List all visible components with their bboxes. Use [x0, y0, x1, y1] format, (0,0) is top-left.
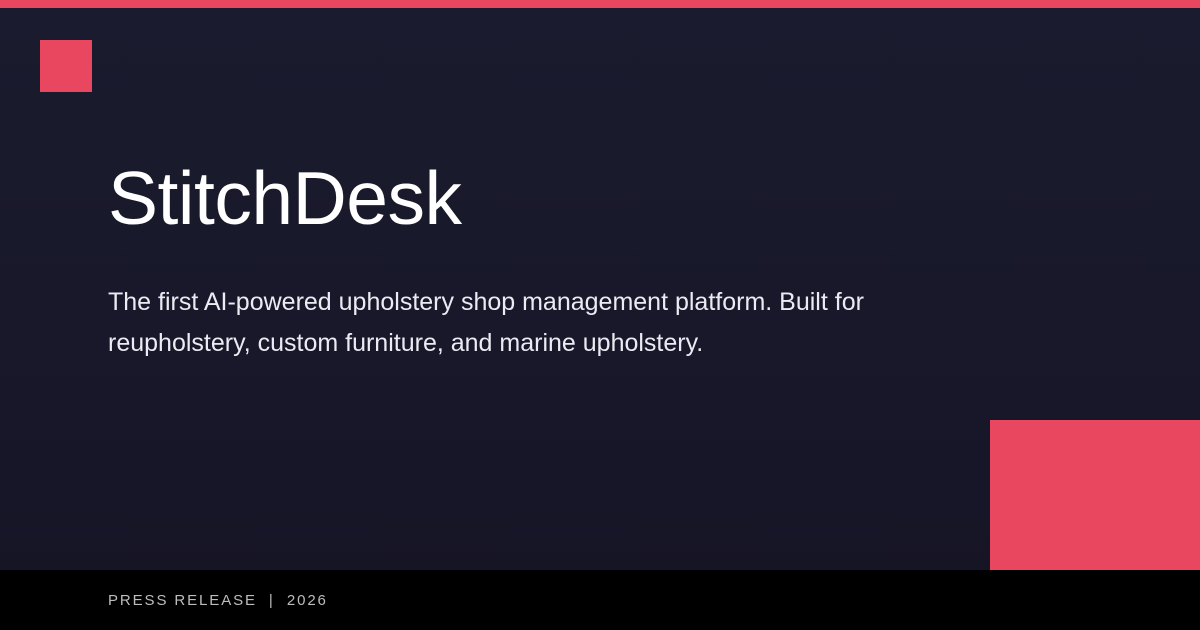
footer-bar: PRESS RELEASE | 2026: [0, 570, 1200, 630]
page-title: StitchDesk: [108, 150, 1008, 246]
footer-meta: PRESS RELEASE | 2026: [108, 570, 328, 630]
footer-separator-icon: |: [257, 592, 287, 609]
footer-label: PRESS RELEASE: [108, 592, 257, 609]
brand-mark-icon: [40, 40, 92, 92]
footer-year: 2026: [287, 592, 328, 609]
hero-subtitle: The first AI-powered upholstery shop man…: [108, 246, 988, 364]
top-accent-bar: [0, 0, 1200, 8]
press-release-card: StitchDesk The first AI-powered upholste…: [0, 0, 1200, 630]
decorative-accent-block: [990, 420, 1200, 570]
hero-content: StitchDesk The first AI-powered upholste…: [108, 150, 1008, 364]
